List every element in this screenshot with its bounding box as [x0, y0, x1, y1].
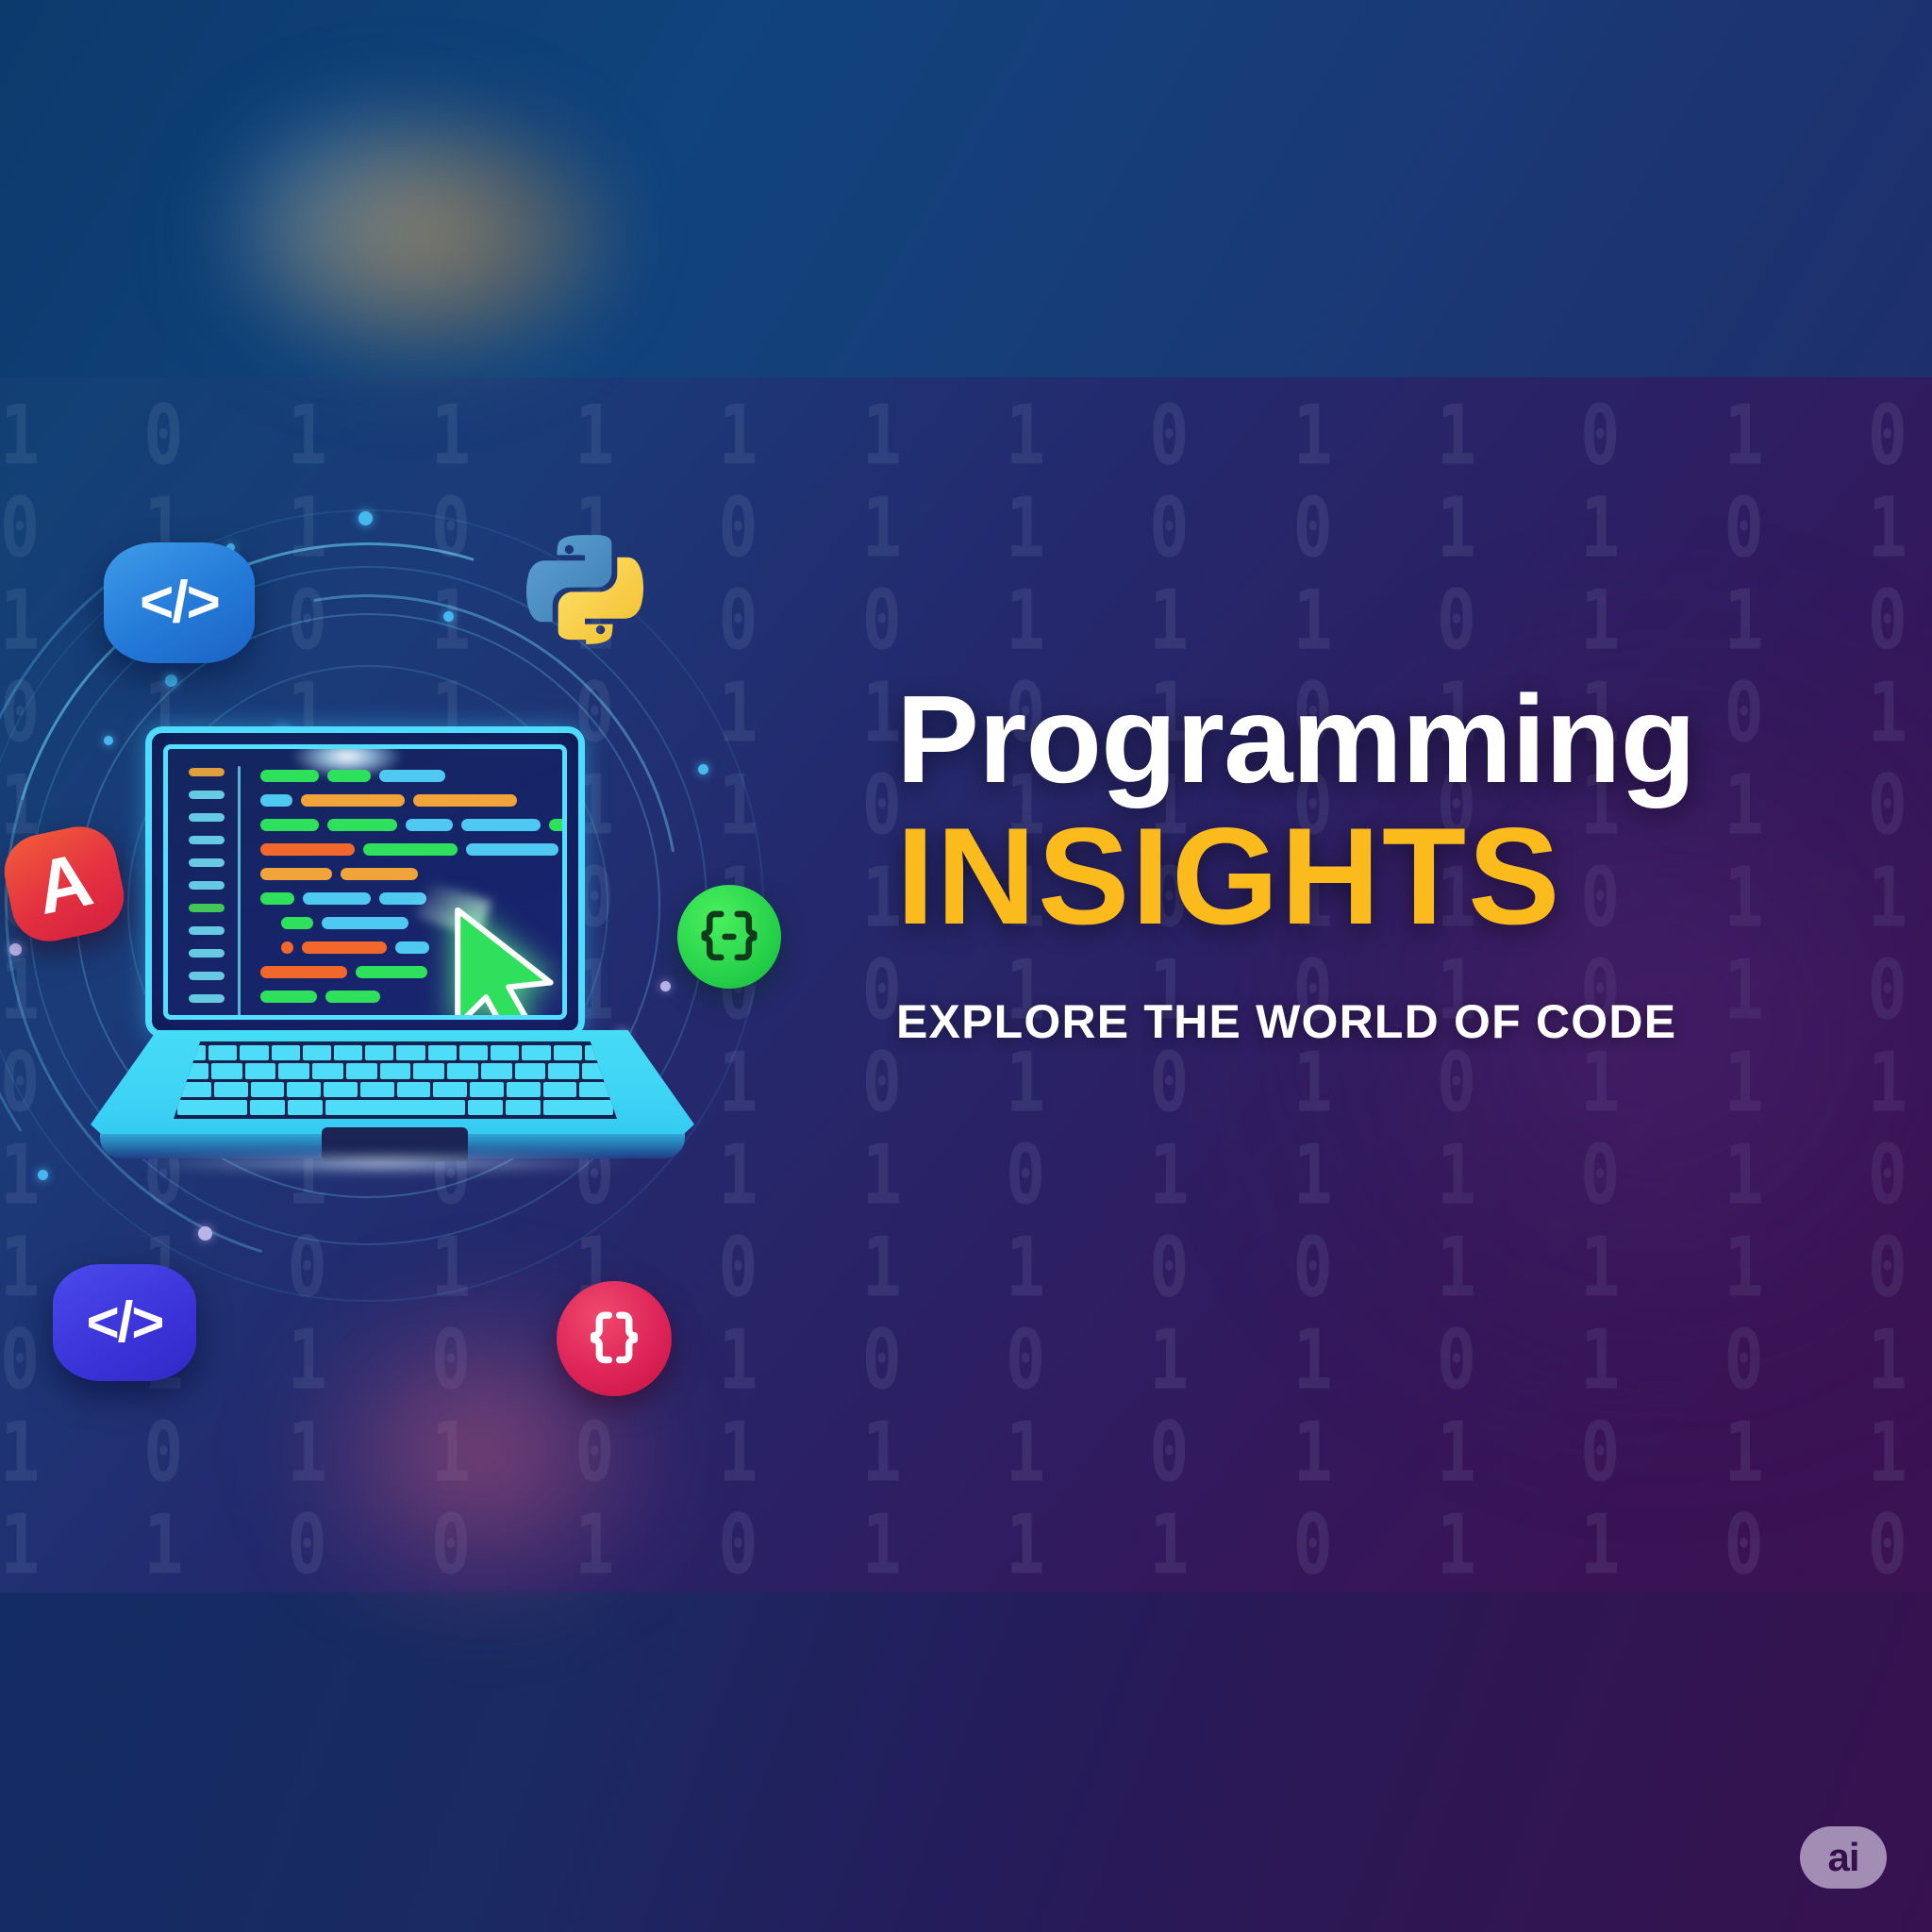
code-tag-icon: </>: [87, 1294, 163, 1351]
keyboard-row: [177, 1063, 613, 1078]
keyboard-key: [334, 1045, 362, 1060]
keyboard-key: [278, 1063, 309, 1078]
keyboard-key: [177, 1100, 247, 1115]
badge-code-tag-indigo[interactable]: </>: [53, 1264, 196, 1381]
keyboard-key: [459, 1045, 488, 1060]
keyboard-key: [506, 1100, 541, 1115]
orbit-particle: [38, 1170, 48, 1180]
keyboard-key: [325, 1100, 465, 1115]
page-title-accent: INSIGHTS: [896, 808, 1868, 945]
keyboard-key: [303, 1045, 331, 1060]
keyboard-key: [240, 1045, 268, 1060]
keyboard-key: [346, 1063, 377, 1078]
keyboard-key: [360, 1082, 394, 1097]
badge-code-tag-blue[interactable]: </>: [104, 542, 255, 663]
badge-braces-minus[interactable]: [677, 885, 781, 989]
keyboard-key: [250, 1100, 285, 1115]
laptop-screen: [163, 744, 567, 1020]
python-icon: [524, 528, 646, 651]
keyboard-key: [287, 1082, 321, 1097]
keyboard-key: [447, 1063, 478, 1078]
page-title: Programming: [896, 677, 1868, 802]
keyboard-key: [208, 1045, 237, 1060]
keyboard-row: [177, 1082, 613, 1097]
gutter-divider: [238, 766, 241, 1020]
keyboard-key: [251, 1082, 285, 1097]
ai-watermark-label: ai: [1827, 1835, 1858, 1880]
keyboard-key: [365, 1045, 393, 1060]
orbit-particle: [198, 1226, 212, 1241]
braces-icon: [580, 1305, 648, 1373]
laptop-under-glow: [147, 1153, 638, 1174]
orbit-particle: [358, 511, 373, 525]
keyboard-key: [470, 1082, 504, 1097]
background-band-top: [0, 0, 1932, 377]
keyboard-key: [312, 1063, 343, 1078]
mouse-cursor-icon: [451, 908, 564, 1020]
orbit-particle: [443, 611, 454, 622]
keyboard-key: [433, 1082, 467, 1097]
keyboard-key: [554, 1045, 582, 1060]
keyboard-key: [491, 1045, 519, 1060]
keyboard-key: [288, 1100, 323, 1115]
keyboard-key: [515, 1063, 546, 1078]
keyboard-key: [324, 1082, 358, 1097]
keyboard-key: [380, 1063, 411, 1078]
background-band-bottom: [0, 1592, 1932, 1932]
poster-canvas: 1 0 1 1 1 1 1 1 0 1 1 0 1 0 1 1 0 1 0 1 …: [0, 0, 1932, 1932]
badge-python[interactable]: [524, 528, 646, 651]
braces-minus-icon: [696, 904, 762, 970]
hero-text-block: Programming INSIGHTS EXPLORE THE WORLD O…: [896, 677, 1868, 1049]
laptop-keyboard: [174, 1041, 617, 1119]
laptop-illustration: [91, 726, 694, 1189]
keyboard-key: [468, 1100, 503, 1115]
keyboard-key: [214, 1082, 248, 1097]
code-gutter: [189, 768, 225, 1020]
keyboard-key: [548, 1063, 579, 1078]
keyboard-key: [245, 1063, 276, 1078]
keyboard-row: [177, 1045, 613, 1060]
keyboard-key: [428, 1045, 457, 1060]
keyboard-key: [543, 1082, 577, 1097]
keyboard-key: [507, 1082, 541, 1097]
keyboard-key: [272, 1045, 300, 1060]
ai-watermark-badge: ai: [1800, 1826, 1887, 1889]
keyboard-key: [396, 1045, 425, 1060]
keyboard-key: [211, 1063, 242, 1078]
keyboard-key: [543, 1100, 613, 1115]
keyboard-key: [413, 1063, 444, 1078]
keyboard-row: [177, 1100, 613, 1115]
code-tag-icon: </>: [140, 574, 219, 632]
keyboard-key: [522, 1045, 550, 1060]
orbit-particle: [165, 675, 177, 687]
laptop-lid: [145, 726, 585, 1038]
badge-braces[interactable]: [557, 1281, 672, 1396]
orbit-particle: [9, 943, 22, 956]
orbit-particle: [698, 764, 708, 774]
page-subtitle: EXPLORE THE WORLD OF CODE: [896, 994, 1868, 1049]
angular-a-icon: A: [29, 841, 98, 926]
keyboard-key: [397, 1082, 431, 1097]
keyboard-key: [481, 1063, 512, 1078]
